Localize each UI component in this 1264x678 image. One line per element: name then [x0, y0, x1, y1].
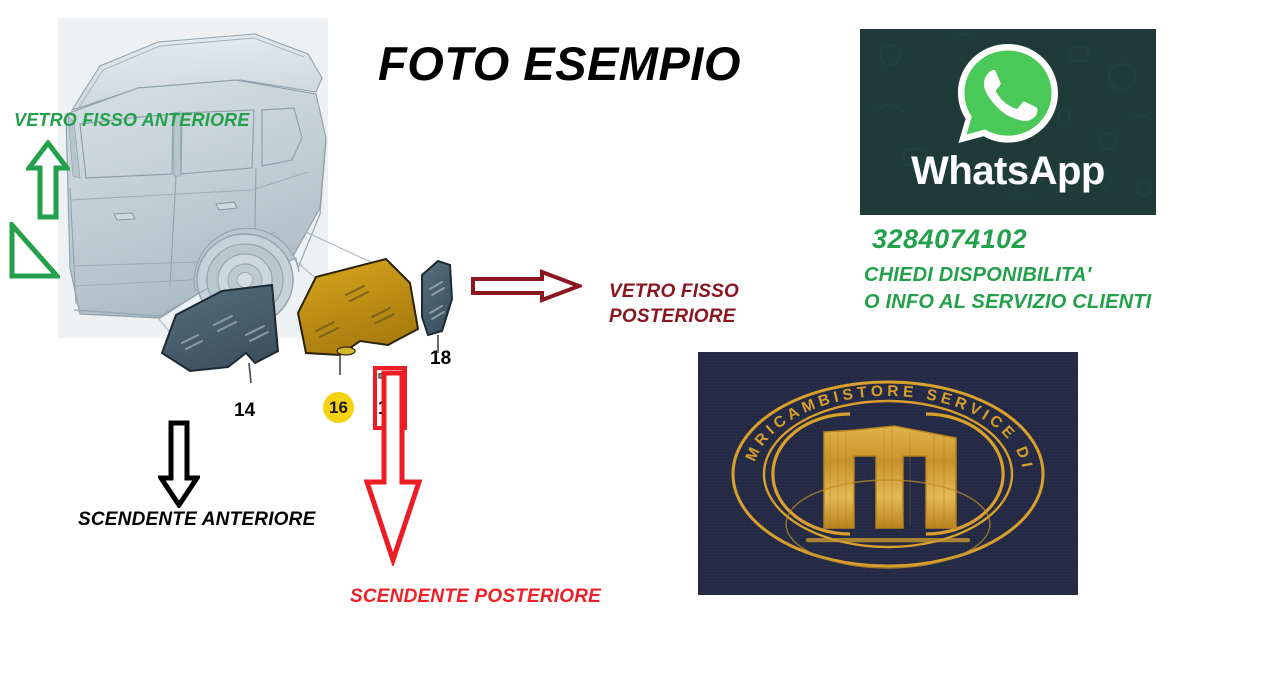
shop-logo-photo: MRICAMBISTORE SERVICE DI RUSSO MARCO [698, 352, 1078, 595]
green-triangle-icon [8, 222, 60, 280]
phone-number[interactable]: 3284074102 [872, 224, 1027, 255]
label-vetro-fisso-posteriore: VETRO FISSO POSTERIORE [609, 279, 739, 329]
label-vetro-fisso-posteriore-line2: POSTERIORE [609, 304, 739, 329]
red-down-arrow-icon [362, 370, 424, 566]
part-16-rear-door-glass [298, 259, 418, 375]
foto-esempio-page: 14 16 17 18 FOTO ESEMPIO VETRO FISSO ANT… [0, 0, 1264, 678]
black-down-arrow-icon [158, 420, 200, 508]
contact-info: CHIEDI DISPONIBILITA' O INFO AL SERVIZIO… [864, 262, 1151, 315]
part-number-18: 18 [430, 348, 451, 370]
contact-info-line2: O INFO AL SERVIZIO CLIENTI [864, 289, 1151, 316]
contact-info-line1: CHIEDI DISPONIBILITA' [864, 262, 1151, 289]
part-number-16-badge: 16 [323, 392, 354, 423]
whatsapp-logo-icon [953, 39, 1063, 149]
green-up-arrow-icon [26, 140, 70, 220]
label-scendente-posteriore: SCENDENTE POSTERIORE [350, 586, 601, 608]
label-vetro-fisso-anteriore: VETRO FISSO ANTERIORE [14, 110, 250, 131]
dark-red-right-arrow-icon [470, 269, 582, 303]
whatsapp-banner[interactable]: WhatsApp [860, 29, 1156, 215]
part-18-rear-quarter-glass [422, 261, 452, 353]
shop-logo-monogram [824, 426, 956, 528]
label-scendente-anteriore: SCENDENTE ANTERIORE [78, 509, 315, 531]
whatsapp-wordmark: WhatsApp [860, 149, 1156, 194]
exploded-glass-parts [150, 255, 480, 435]
part-14-front-door-glass [162, 285, 278, 383]
label-vetro-fisso-posteriore-line1: VETRO FISSO [609, 279, 739, 304]
page-title: FOTO ESEMPIO [378, 36, 741, 91]
part-number-14: 14 [234, 400, 255, 422]
